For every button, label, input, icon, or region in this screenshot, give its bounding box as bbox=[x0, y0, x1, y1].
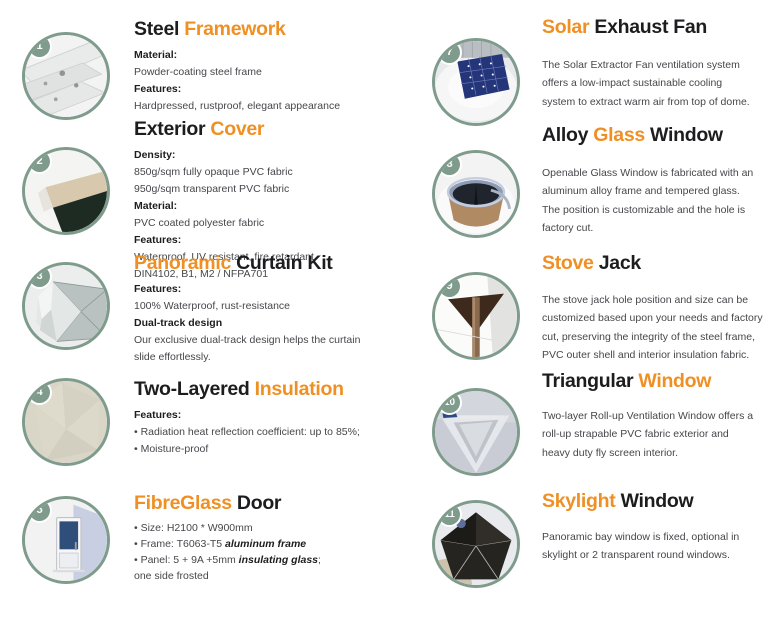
badge-number-3: 3 bbox=[29, 266, 50, 287]
title-part-highlight: Stove bbox=[542, 252, 599, 274]
feature-image-solar-exhaust-fan: 7 bbox=[432, 38, 520, 126]
feature-title-triangular-window: Triangular Window bbox=[542, 370, 780, 392]
spec-value: PVC coated polyester fabric bbox=[134, 215, 382, 232]
feature-image-alloy-glass-window: 8 bbox=[432, 150, 520, 238]
spec-value: 850g/sqm fully opaque PVC fabric bbox=[134, 164, 382, 181]
circle-photo-8: 8 bbox=[432, 150, 520, 238]
paragraph-line: The position is customizable and the hol… bbox=[542, 201, 780, 219]
feature-body-two-layered-insulation: Two-Layered Insulation Features: • Radia… bbox=[134, 378, 382, 458]
feature-image-stove-jack: 9 bbox=[432, 272, 520, 360]
paragraph-line: aluminum alloy frame and tempered glass. bbox=[542, 182, 780, 200]
badge-number-5: 5 bbox=[29, 500, 50, 521]
feature-image-two-layered-insulation: 4 bbox=[22, 378, 110, 466]
title-part-highlight: Glass bbox=[593, 124, 650, 146]
title-part-plain: Steel bbox=[134, 18, 184, 40]
feature-paragraph: Openable Glass Window is fabricated with… bbox=[542, 164, 780, 236]
spec-value: 100% Waterproof, rust-resistance bbox=[134, 298, 382, 315]
badge-number-11: 11 bbox=[439, 504, 460, 525]
feature-paragraph: The Solar Extractor Fan ventilation syst… bbox=[542, 56, 772, 110]
title-part-highlight: Framework bbox=[184, 18, 285, 40]
paragraph-line: offers a low-impact sustainable cooling bbox=[542, 74, 772, 92]
paragraph-line: Panoramic bay window is fixed, optional … bbox=[542, 528, 780, 546]
feature-title-skylight-window: Skylight Window bbox=[542, 490, 780, 512]
spec-value: • Size: H2100 * W900mm bbox=[134, 521, 382, 537]
feature-title-panoramic-curtain-kit: Panoramic Curtain Kit bbox=[134, 252, 382, 274]
badge-number-9: 9 bbox=[439, 276, 460, 297]
spec-label: Material: bbox=[134, 47, 382, 64]
spec-label: Features: bbox=[134, 407, 382, 424]
spec-suffix: ; bbox=[318, 554, 321, 566]
spec-prefix: • Panel: 5 + 9A +5mm bbox=[134, 554, 239, 566]
circle-photo-10: 10 bbox=[432, 388, 520, 476]
paragraph-line: The Solar Extractor Fan ventilation syst… bbox=[542, 56, 772, 74]
spec-label: Density: bbox=[134, 147, 382, 164]
feature-image-panoramic-curtain-kit: 3 bbox=[22, 262, 110, 350]
paragraph-line: heavy duty fly screen interior. bbox=[542, 444, 780, 462]
title-part-highlight: Insulation bbox=[255, 378, 344, 400]
paragraph-line: cut, preserving the integrity of the ste… bbox=[542, 328, 780, 346]
title-part-plain: Two-Layered bbox=[134, 378, 255, 400]
circle-photo-11: 11 bbox=[432, 500, 520, 588]
circle-photo-2: 2 bbox=[22, 147, 110, 235]
paragraph-line: Openable Glass Window is fabricated with… bbox=[542, 164, 780, 182]
feature-paragraph: Panoramic bay window is fixed, optional … bbox=[542, 528, 780, 564]
spec-value: 950g/sqm transparent PVC fabric bbox=[134, 181, 382, 198]
spec-label: Features: bbox=[134, 232, 382, 249]
feature-title-alloy-glass-window: Alloy Glass Window bbox=[542, 124, 780, 146]
title-part-highlight: Cover bbox=[210, 118, 264, 140]
title-part-highlight: Panoramic bbox=[134, 252, 236, 274]
feature-body-skylight-window: Skylight Window Panoramic bay window is … bbox=[542, 490, 780, 565]
feature-paragraph: The stove jack hole position and size ca… bbox=[542, 291, 780, 363]
feature-body-steel-framework: Steel Framework Material: Powder-coating… bbox=[134, 18, 382, 115]
spec-value: • Frame: T6063-T5 aluminum frame bbox=[134, 537, 382, 553]
feature-body-alloy-glass-window: Alloy Glass Window Openable Glass Window… bbox=[542, 124, 780, 237]
circle-photo-3: 3 bbox=[22, 262, 110, 350]
paragraph-line: factory cut. bbox=[542, 219, 780, 237]
circle-photo-7: 7 bbox=[432, 38, 520, 126]
title-part-plain: Window bbox=[621, 490, 694, 512]
feature-image-triangular-window: 10 bbox=[432, 388, 520, 476]
title-part-plain: Exhaust Fan bbox=[594, 16, 707, 38]
circle-photo-4: 4 bbox=[22, 378, 110, 466]
paragraph-line: roll-up strapable PVC fabric exterior an… bbox=[542, 425, 780, 443]
title-part-plain: Window bbox=[650, 124, 723, 146]
spec-emphasis: aluminum frame bbox=[225, 538, 306, 550]
title-part-plain: Curtain Kit bbox=[236, 252, 332, 274]
paragraph-line: Two-layer Roll-up Ventilation Window off… bbox=[542, 407, 780, 425]
title-part-plain: Door bbox=[237, 492, 281, 514]
spec-value: one side frosted bbox=[134, 569, 382, 585]
feature-paragraph: Two-layer Roll-up Ventilation Window off… bbox=[542, 407, 780, 461]
badge-number-4: 4 bbox=[29, 382, 50, 403]
title-part-highlight: Window bbox=[638, 370, 711, 392]
title-part-highlight: Solar bbox=[542, 16, 594, 38]
circle-photo-1: 1 bbox=[22, 32, 110, 120]
spec-value: Our exclusive dual-track design helps th… bbox=[134, 332, 382, 349]
badge-number-8: 8 bbox=[439, 154, 460, 175]
feature-title-solar-exhaust-fan: Solar Exhaust Fan bbox=[542, 16, 772, 38]
feature-body-triangular-window: Triangular Window Two-layer Roll-up Vent… bbox=[542, 370, 780, 462]
feature-image-steel-framework: 1 bbox=[22, 32, 110, 120]
title-part-plain: Jack bbox=[599, 252, 641, 274]
spec-label: Dual-track design bbox=[134, 315, 382, 332]
paragraph-line: PVC outer shell and interior insulation … bbox=[542, 346, 780, 364]
feature-title-fibreglass-door: FibreGlass Door bbox=[134, 492, 382, 514]
feature-image-fibreglass-door: 5 bbox=[22, 496, 110, 584]
spec-value: • Radiation heat reflection coefficient:… bbox=[134, 424, 382, 441]
circle-photo-9: 9 bbox=[432, 272, 520, 360]
spec-value: • Panel: 5 + 9A +5mm insulating glass; bbox=[134, 553, 382, 569]
badge-number-7: 7 bbox=[439, 42, 460, 63]
spec-label: Material: bbox=[134, 198, 382, 215]
feature-title-exterior-cover: Exterior Cover bbox=[134, 118, 382, 140]
spec-label: Features: bbox=[134, 281, 382, 298]
title-part-plain-first: Alloy bbox=[542, 124, 593, 146]
paragraph-line: skylight or 2 transparent round windows. bbox=[542, 546, 780, 564]
badge-number-2: 2 bbox=[29, 151, 50, 172]
feature-body-fibreglass-door: FibreGlass Door • Size: H2100 * W900mm •… bbox=[134, 492, 382, 585]
spec-label: Features: bbox=[134, 81, 382, 98]
feature-body-panoramic-curtain-kit: Panoramic Curtain Kit Features: 100% Wat… bbox=[134, 252, 382, 366]
feature-title-stove-jack: Stove Jack bbox=[542, 252, 780, 274]
feature-body-solar-exhaust-fan: Solar Exhaust Fan The Solar Extractor Fa… bbox=[542, 16, 772, 111]
spec-emphasis: insulating glass bbox=[239, 554, 318, 566]
paragraph-line: system to extract warm air from top of d… bbox=[542, 93, 772, 111]
feature-image-exterior-cover: 2 bbox=[22, 147, 110, 235]
left-column: 1 Steel Framework Material: Powder-coati… bbox=[0, 0, 390, 621]
title-part-plain: Exterior bbox=[134, 118, 210, 140]
badge-number-10: 10 bbox=[439, 392, 460, 413]
paragraph-line: The stove jack hole position and size ca… bbox=[542, 291, 780, 309]
feature-body-stove-jack: Stove Jack The stove jack hole position … bbox=[542, 252, 780, 364]
spec-value: Powder-coating steel frame bbox=[134, 64, 382, 81]
spec-value: Hardpressed, rustproof, elegant appearan… bbox=[134, 98, 382, 115]
circle-photo-5: 5 bbox=[22, 496, 110, 584]
right-column: 7 Solar Exhaust Fan The Solar Extractor … bbox=[390, 0, 780, 621]
spec-prefix: • Frame: T6063-T5 bbox=[134, 538, 225, 550]
badge-number-1: 1 bbox=[29, 36, 50, 57]
spec-value: • Moisture-proof bbox=[134, 441, 382, 458]
spec-value: slide effortlessly. bbox=[134, 349, 382, 366]
title-part-highlight: Skylight bbox=[542, 490, 621, 512]
feature-title-steel-framework: Steel Framework bbox=[134, 18, 382, 40]
title-part-highlight: FibreGlass bbox=[134, 492, 237, 514]
title-part-plain: Triangular bbox=[542, 370, 638, 392]
feature-image-skylight-window: 11 bbox=[432, 500, 520, 588]
paragraph-line: customized based upon your needs and fac… bbox=[542, 309, 780, 327]
infographic-sheet: 1 Steel Framework Material: Powder-coati… bbox=[0, 0, 780, 621]
feature-title-two-layered-insulation: Two-Layered Insulation bbox=[134, 378, 382, 400]
